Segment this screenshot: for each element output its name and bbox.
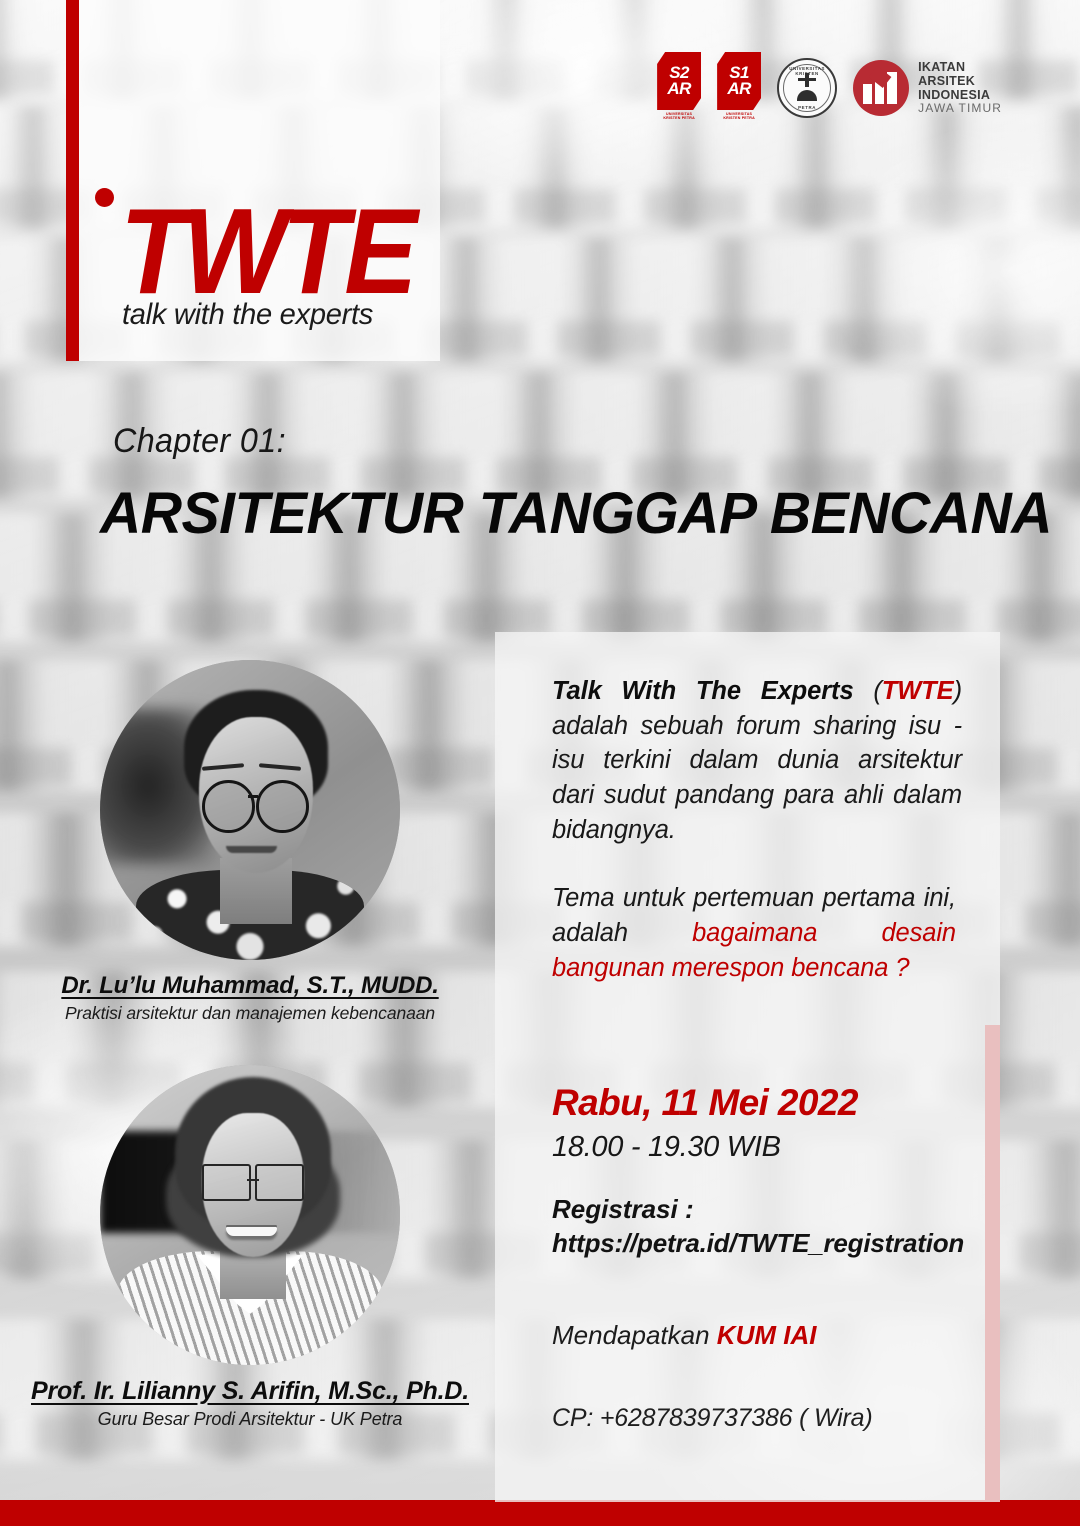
credit-prefix: Mendapatkan <box>552 1320 717 1350</box>
iai-line-4: JAWA TIMUR <box>918 102 1002 115</box>
registration-label: Registrasi : <box>552 1194 694 1225</box>
petra-university-seal-icon: UNIVERSITAS KRISTEN PETRA <box>777 58 837 118</box>
iai-line-3: INDONESIA <box>918 88 1002 102</box>
poster-root: S2 AR UNIVERSITAS KRISTEN PETRA S1 AR UN… <box>0 0 1080 1526</box>
iai-jatim-logo: IKATAN ARSITEK INDONESIA JAWA TIMUR <box>853 60 1002 116</box>
twte-tagline: talk with the experts <box>122 298 373 332</box>
logo-strip: S2 AR UNIVERSITAS KRISTEN PETRA S1 AR UN… <box>657 52 1002 124</box>
intro-paragraph: Talk With The Experts (TWTE) adalah sebu… <box>552 674 962 847</box>
speaker-2-avatar <box>100 1065 400 1365</box>
credit-note: Mendapatkan KUM IAI <box>552 1320 816 1351</box>
intro-acronym: TWTE <box>882 677 954 705</box>
s1-ar-logo: S1 AR UNIVERSITAS KRISTEN PETRA <box>717 52 761 124</box>
speaker-1-avatar <box>100 660 400 960</box>
s2-ar-logo: S2 AR UNIVERSITAS KRISTEN PETRA <box>657 52 701 124</box>
speaker-card-1: Dr. Lu’lu Muhammad, S.T., MUDD. Praktisi… <box>0 660 500 1024</box>
theme-paragraph: Tema untuk pertemuan pertama ini, adalah… <box>552 881 956 985</box>
credit-value: KUM IAI <box>717 1320 817 1350</box>
s1-ar-sublabel: UNIVERSITAS KRISTEN PETRA <box>717 112 761 121</box>
intro-paren-close: ) <box>954 677 962 705</box>
accent-bar-left <box>66 0 79 361</box>
page-title: ARSITEKTUR TANGGAP BENCANA <box>100 480 1052 547</box>
s2-ar-line2: AR <box>667 81 691 97</box>
twte-dot-icon <box>95 188 114 207</box>
iai-line-1: IKATAN <box>918 60 1002 74</box>
event-time: 18.00 - 19.30 WIB <box>552 1131 781 1164</box>
chapter-label: Chapter 01: <box>113 422 286 461</box>
intro-paren-open: ( <box>854 677 882 705</box>
contact-person: CP: +6287839737386 ( Wira) <box>552 1404 872 1433</box>
event-date: Rabu, 11 Mei 2022 <box>552 1082 858 1124</box>
registration-link[interactable]: https://petra.id/TWTE_registration <box>552 1228 964 1259</box>
s1-ar-line2: AR <box>727 81 751 97</box>
accent-bar-bottom <box>0 1500 1080 1526</box>
s2-ar-sublabel: UNIVERSITAS KRISTEN PETRA <box>657 112 701 121</box>
speaker-card-2: Prof. Ir. Lilianny S. Arifin, M.Sc., Ph.… <box>0 1065 500 1430</box>
petra-seal-bottom-text: PETRA <box>779 105 835 110</box>
speaker-1-role: Praktisi arsitektur dan manajemen kebenc… <box>0 1003 500 1024</box>
intro-body: adalah sebuah forum sharing isu - isu te… <box>552 712 962 844</box>
speaker-1-name: Dr. Lu’lu Muhammad, S.T., MUDD. <box>0 972 500 1000</box>
speaker-2-name: Prof. Ir. Lilianny S. Arifin, M.Sc., Ph.… <box>0 1377 500 1406</box>
iai-line-2: ARSITEK <box>918 74 1002 88</box>
info-panel: Talk With The Experts (TWTE) adalah sebu… <box>495 632 1000 1502</box>
intro-bold-title: Talk With The Experts <box>552 677 854 705</box>
speaker-2-role: Guru Besar Prodi Arsitektur - UK Petra <box>0 1409 500 1430</box>
iai-building-icon <box>853 60 909 116</box>
twte-wordmark: TWTE <box>120 190 413 312</box>
